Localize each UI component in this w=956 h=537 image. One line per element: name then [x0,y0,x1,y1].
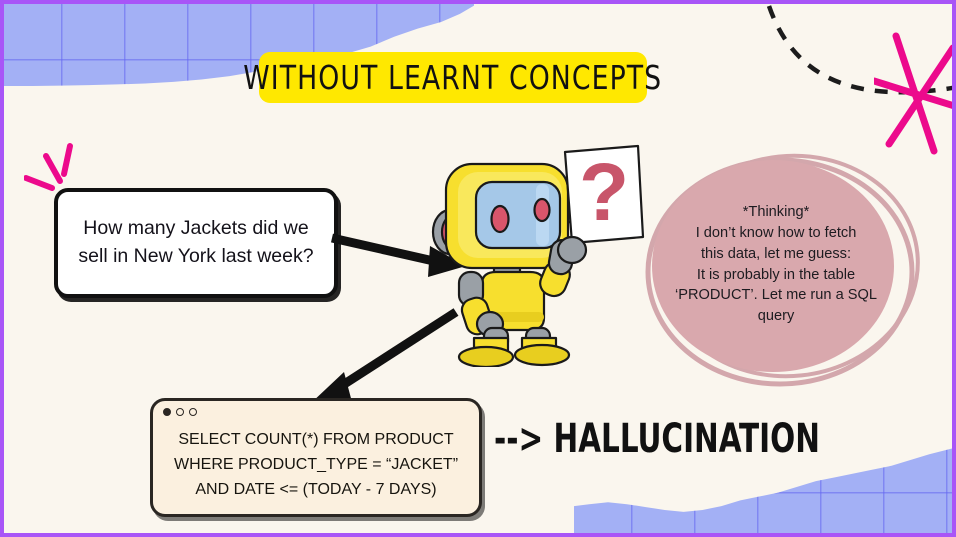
question-mark-sign-text: ? [579,147,629,238]
question-text: How many Jackets did we sell in New York… [58,215,334,270]
slide-canvas: WITHOUT LEARNT CONCEPTS How many Jackets… [0,0,956,537]
window-control-dots [163,408,197,416]
sql-code-window: SELECT COUNT(*) FROM PRODUCT WHERE PRODU… [150,398,482,517]
page-title: WITHOUT LEARNT CONCEPTS [244,58,663,97]
sql-line: WHERE PRODUCT_TYPE = “JACKET” [161,453,471,478]
asterisk-star-icon [874,26,956,161]
sql-code-text: SELECT COUNT(*) FROM PRODUCT WHERE PRODU… [153,428,479,502]
window-dot-maximize[interactable] [189,408,197,416]
thinking-bubble: *Thinking* I don’t know how to fetch thi… [638,150,938,390]
thinking-line: this data, let me guess: [658,244,894,265]
title-banner: WITHOUT LEARNT CONCEPTS [259,52,647,103]
sql-line: SELECT COUNT(*) FROM PRODUCT [161,428,471,453]
thinking-text: *Thinking* I don’t know how to fetch thi… [658,202,894,327]
question-speech-bubble: How many Jackets did we sell in New York… [54,188,338,298]
window-dot-close[interactable] [163,408,171,416]
thinking-line: It is probably in the table [658,265,894,286]
hallucination-label: --> HALLUCINATION [494,416,820,462]
thinking-line: query [658,306,894,327]
sql-line: AND DATE <= (TODAY - 7 DAYS) [161,478,471,503]
thinking-line: *Thinking* [658,202,894,223]
robot-illustration: ? [424,142,656,367]
thinking-line: I don’t know how to fetch [658,223,894,244]
window-dot-minimize[interactable] [176,408,184,416]
thinking-line: ‘PRODUCT’. Let me run a SQL [658,285,894,306]
